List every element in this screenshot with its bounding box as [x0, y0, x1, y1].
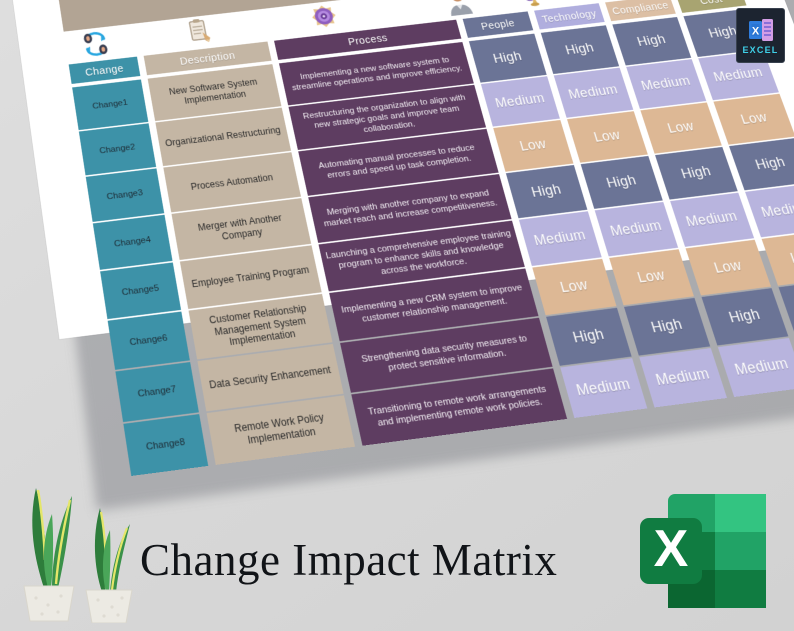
- person-icon: [439, 0, 478, 18]
- cell-cost[interactable]: Medium: [745, 183, 794, 237]
- cell-compliance[interactable]: Medium: [626, 59, 706, 109]
- clipboard-icon: [180, 16, 218, 48]
- change-cycle-icon: [77, 28, 114, 60]
- cell-change[interactable]: Change5: [100, 262, 181, 319]
- cell-cost[interactable]: High: [729, 138, 794, 190]
- cell-compliance[interactable]: Medium: [670, 193, 754, 247]
- cell-compliance[interactable]: Medium: [718, 338, 794, 397]
- satellite-dish-icon: [515, 0, 555, 9]
- cell-people[interactable]: Medium: [519, 211, 602, 266]
- cell-change[interactable]: Change7: [115, 362, 199, 422]
- cell-people[interactable]: Medium: [560, 358, 647, 418]
- decorative-plants: [6, 468, 156, 623]
- cell-people[interactable]: High: [506, 165, 588, 218]
- svg-text:X: X: [751, 25, 759, 37]
- cell-technology[interactable]: High: [624, 298, 710, 356]
- cell-technology[interactable]: High: [541, 25, 619, 74]
- bottom-title: Change Impact Matrix: [140, 534, 557, 586]
- cell-technology[interactable]: Medium: [595, 202, 678, 256]
- cell-change[interactable]: Change4: [93, 215, 173, 270]
- cell-people[interactable]: Low: [532, 259, 616, 315]
- cell-change[interactable]: Change3: [86, 168, 164, 222]
- cell-change[interactable]: Change6: [108, 312, 190, 370]
- excel-badge[interactable]: X EXCEL: [736, 8, 785, 63]
- cell-compliance[interactable]: High: [612, 17, 691, 66]
- cell-cost[interactable]: Low: [713, 94, 794, 145]
- cell-change[interactable]: Change8: [123, 414, 208, 476]
- cell-technology[interactable]: Low: [567, 111, 648, 162]
- excel-icon: X: [748, 17, 774, 43]
- excel-badge-label: EXCEL: [742, 45, 778, 55]
- matrix-sheet: CHANGE IMPACT MATRIX: [12, 0, 794, 339]
- cell-people[interactable]: Low: [493, 120, 573, 172]
- cell-change[interactable]: Change1: [72, 79, 148, 130]
- cell-technology[interactable]: High: [581, 156, 663, 209]
- cell-technology[interactable]: Low: [609, 249, 694, 305]
- cell-people[interactable]: Medium: [481, 76, 560, 126]
- cell-change[interactable]: Change2: [79, 123, 156, 175]
- cell-technology[interactable]: Medium: [639, 348, 727, 407]
- cell-people[interactable]: High: [469, 34, 547, 83]
- gear-process-icon: [305, 2, 344, 34]
- matrix-sheet-wrapper: CHANGE IMPACT MATRIX: [12, 0, 794, 339]
- cell-compliance[interactable]: High: [701, 288, 788, 345]
- cell-people[interactable]: High: [546, 308, 632, 366]
- cell-compliance[interactable]: Low: [640, 102, 721, 153]
- cell-technology[interactable]: Medium: [554, 68, 634, 118]
- excel-logo: X: [634, 484, 774, 619]
- cell-compliance[interactable]: High: [655, 147, 738, 200]
- scene: CHANGE IMPACT MATRIX: [0, 0, 794, 631]
- svg-text:X: X: [654, 520, 689, 578]
- cell-compliance[interactable]: Low: [686, 240, 771, 296]
